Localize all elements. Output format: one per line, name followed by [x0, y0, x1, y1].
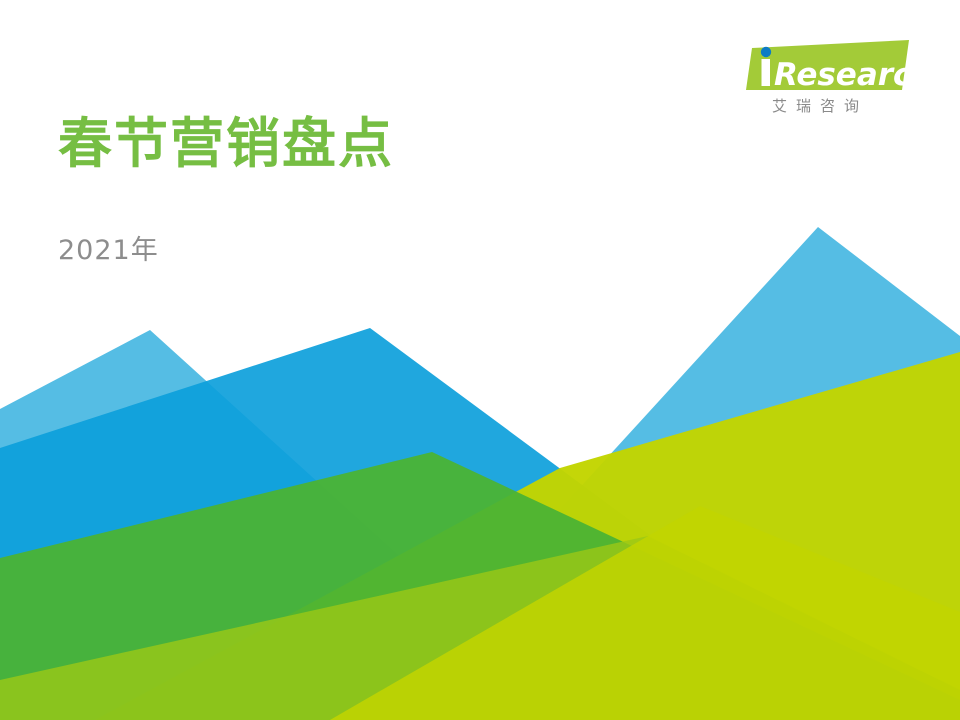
- iresearch-logo-svg: Research 艾瑞咨询: [744, 34, 914, 118]
- page-subtitle-year: 2021年: [58, 176, 394, 267]
- logo-wordmark: Research: [774, 57, 914, 93]
- page-title: 春节营销盘点: [58, 112, 394, 176]
- logo-i-dot-icon: [761, 47, 771, 57]
- report-cover-slide: 春节营销盘点 2021年 Research 艾瑞咨询: [0, 0, 960, 720]
- logo-i-stem-icon: [762, 59, 771, 86]
- logo-chinese-subtitle: 艾瑞咨询: [772, 97, 868, 115]
- iresearch-logo: Research 艾瑞咨询: [744, 34, 914, 118]
- title-block: 春节营销盘点 2021年: [58, 112, 394, 267]
